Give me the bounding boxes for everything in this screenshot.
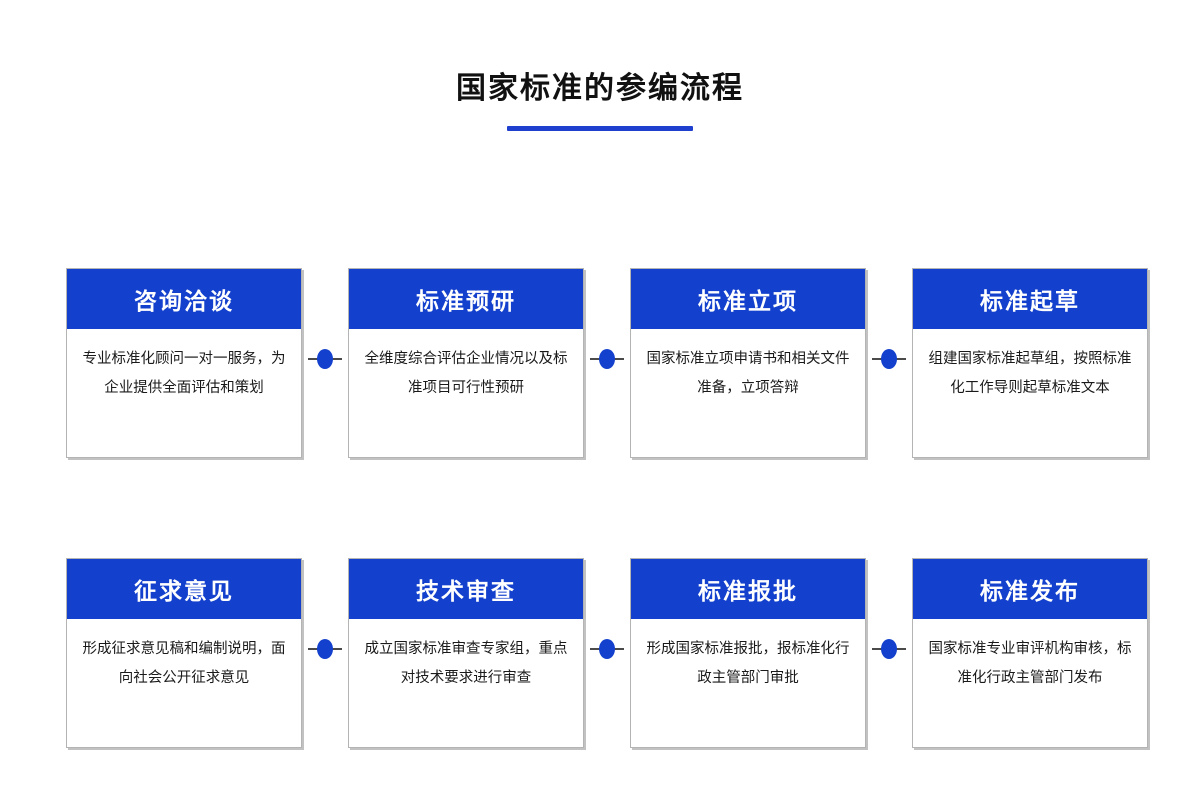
title-underline bbox=[507, 126, 693, 131]
flow-card-7-body: 形成国家标准报批，报标准化行政主管部门审批 bbox=[631, 619, 865, 747]
flow-card-2-header: 标准预研 bbox=[349, 269, 583, 329]
flow-connector-7-8 bbox=[866, 558, 912, 754]
flow-card-6-body: 成立国家标准审查专家组，重点对技术要求进行审查 bbox=[349, 619, 583, 747]
flow-card-4[interactable]: 标准起草 组建国家标准起草组，按照标准化工作导则起草标准文本 bbox=[912, 268, 1148, 458]
dot-connector-icon bbox=[599, 349, 615, 369]
flow-card-5[interactable]: 征求意见 形成征求意见稿和编制说明，面向社会公开征求意见 bbox=[66, 558, 302, 748]
flow-card-3[interactable]: 标准立项 国家标准立项申请书和相关文件准备，立项答辩 bbox=[630, 268, 866, 458]
flow-row-2: 征求意见 形成征求意见稿和编制说明，面向社会公开征求意见 技术审查 成立国家标准… bbox=[66, 558, 1150, 754]
flow-card-7-header: 标准报批 bbox=[631, 559, 865, 619]
flow-card-1-header: 咨询洽谈 bbox=[67, 269, 301, 329]
flow-card-2-body: 全维度综合评估企业情况以及标准项目可行性预研 bbox=[349, 329, 583, 457]
dot-connector-icon bbox=[317, 349, 333, 369]
flow-card-7[interactable]: 标准报批 形成国家标准报批，报标准化行政主管部门审批 bbox=[630, 558, 866, 748]
flow-connector-3-4 bbox=[866, 268, 912, 464]
flow-card-8[interactable]: 标准发布 国家标准专业审评机构审核，标准化行政主管部门发布 bbox=[912, 558, 1148, 748]
title-block: 国家标准的参编流程 bbox=[0, 68, 1200, 131]
flow-row-1: 咨询洽谈 专业标准化顾问一对一服务，为企业提供全面评估和策划 标准预研 全维度综… bbox=[66, 268, 1150, 464]
flow-card-3-body: 国家标准立项申请书和相关文件准备，立项答辩 bbox=[631, 329, 865, 457]
flow-card-8-header: 标准发布 bbox=[913, 559, 1147, 619]
flow-card-1-body: 专业标准化顾问一对一服务，为企业提供全面评估和策划 bbox=[67, 329, 301, 457]
flow-connector-6-7 bbox=[584, 558, 630, 754]
dot-connector-icon bbox=[881, 639, 897, 659]
flow-card-5-header: 征求意见 bbox=[67, 559, 301, 619]
flow-card-1[interactable]: 咨询洽谈 专业标准化顾问一对一服务，为企业提供全面评估和策划 bbox=[66, 268, 302, 458]
flow-connector-5-6 bbox=[302, 558, 348, 754]
dot-connector-icon bbox=[599, 639, 615, 659]
flow-connector-2-3 bbox=[584, 268, 630, 464]
flow-connector-1-2 bbox=[302, 268, 348, 464]
page-title: 国家标准的参编流程 bbox=[0, 68, 1200, 110]
flow-diagram: 咨询洽谈 专业标准化顾问一对一服务，为企业提供全面评估和策划 标准预研 全维度综… bbox=[66, 268, 1150, 754]
flow-card-6-header: 技术审查 bbox=[349, 559, 583, 619]
dot-connector-icon bbox=[881, 349, 897, 369]
flow-card-8-body: 国家标准专业审评机构审核，标准化行政主管部门发布 bbox=[913, 619, 1147, 747]
flow-card-6[interactable]: 技术审查 成立国家标准审查专家组，重点对技术要求进行审查 bbox=[348, 558, 584, 748]
flow-card-2[interactable]: 标准预研 全维度综合评估企业情况以及标准项目可行性预研 bbox=[348, 268, 584, 458]
flow-card-4-body: 组建国家标准起草组，按照标准化工作导则起草标准文本 bbox=[913, 329, 1147, 457]
flow-card-3-header: 标准立项 bbox=[631, 269, 865, 329]
dot-connector-icon bbox=[317, 639, 333, 659]
flow-card-5-body: 形成征求意见稿和编制说明，面向社会公开征求意见 bbox=[67, 619, 301, 747]
flow-card-4-header: 标准起草 bbox=[913, 269, 1147, 329]
